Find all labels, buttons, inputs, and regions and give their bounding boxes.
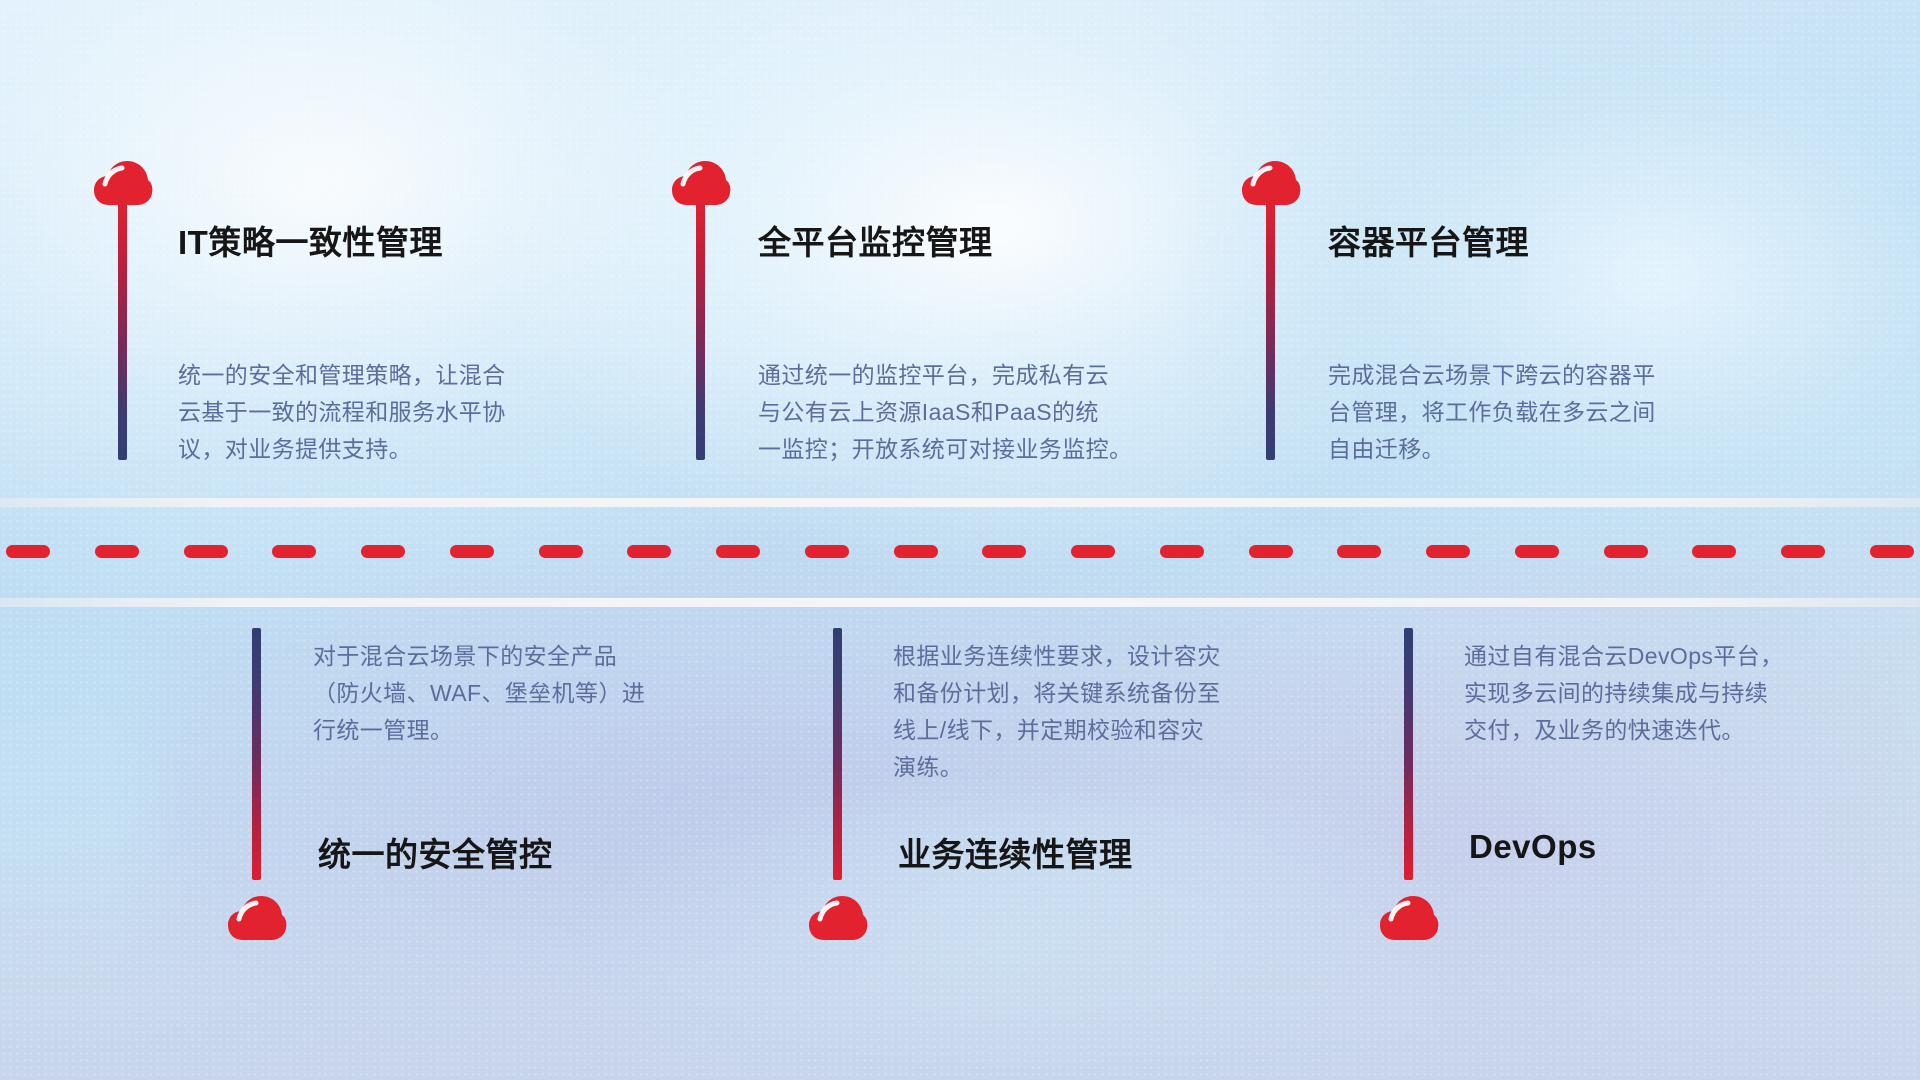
divider-band-top xyxy=(0,498,1920,507)
top-card-1-title: IT策略一致性管理 xyxy=(178,216,443,264)
connector-stem xyxy=(1404,628,1413,880)
divider-dash xyxy=(361,545,405,558)
divider-dash xyxy=(627,545,671,558)
body-line: 台管理，将工作负载在多云之间 xyxy=(1328,394,1656,431)
top-card-3-title: 容器平台管理 xyxy=(1328,216,1529,264)
body-line: 通过自有混合云DevOps平台， xyxy=(1464,638,1783,675)
bottom-card-2-title: 业务连续性管理 xyxy=(898,828,1133,876)
connector-stem xyxy=(833,628,842,880)
connector-stem xyxy=(118,198,127,460)
body-line: 行统一管理。 xyxy=(313,712,645,749)
divider-dash xyxy=(1692,545,1736,558)
connector-stem xyxy=(1266,198,1275,460)
divider-dash xyxy=(184,545,228,558)
cloud-icon xyxy=(807,895,869,941)
body-line: 与公有云上资源IaaS和PaaS的统 xyxy=(758,394,1132,431)
top-card-2-body: 通过统一的监控平台，完成私有云 与公有云上资源IaaS和PaaS的统 一监控；开… xyxy=(758,357,1132,468)
divider-dash xyxy=(1337,545,1381,558)
divider-band-bottom xyxy=(0,598,1920,607)
divider-dash xyxy=(1515,545,1559,558)
background-dot-texture xyxy=(0,0,1920,1080)
bottom-card-3-body: 通过自有混合云DevOps平台， 实现多云间的持续集成与持续 交付，及业务的快速… xyxy=(1464,638,1783,749)
divider-dash xyxy=(6,545,50,558)
divider-dash xyxy=(1781,545,1825,558)
body-line: 议，对业务提供支持。 xyxy=(178,431,506,468)
top-card-1-body: 统一的安全和管理策略，让混合 云基于一致的流程和服务水平协 议，对业务提供支持。 xyxy=(178,357,506,468)
divider-dash xyxy=(95,545,139,558)
cloud-icon xyxy=(1378,895,1440,941)
divider-dash xyxy=(1426,545,1470,558)
divider-dash xyxy=(1604,545,1648,558)
bottom-card-1-title: 统一的安全管控 xyxy=(318,828,553,876)
bottom-card-1-body: 对于混合云场景下的安全产品 （防火墙、WAF、堡垒机等）进 行统一管理。 xyxy=(313,638,645,749)
body-line: 实现多云间的持续集成与持续 xyxy=(1464,675,1783,712)
body-line: 根据业务连续性要求，设计容灾 xyxy=(893,638,1221,675)
top-card-2-title: 全平台监控管理 xyxy=(758,216,993,264)
divider-dash xyxy=(1071,545,1115,558)
body-line: 对于混合云场景下的安全产品 xyxy=(313,638,645,675)
divider-dash xyxy=(982,545,1026,558)
divider-dash xyxy=(805,545,849,558)
divider-dash xyxy=(450,545,494,558)
body-line: 通过统一的监控平台，完成私有云 xyxy=(758,357,1132,394)
body-line: 和备份计划，将关键系统备份至 xyxy=(893,675,1221,712)
divider-dash xyxy=(716,545,760,558)
divider-dash xyxy=(1249,545,1293,558)
body-line: 一监控；开放系统可对接业务监控。 xyxy=(758,431,1132,468)
divider-dash xyxy=(1160,545,1204,558)
divider-dash xyxy=(272,545,316,558)
body-line: 云基于一致的流程和服务水平协 xyxy=(178,394,506,431)
body-line: 完成混合云场景下跨云的容器平 xyxy=(1328,357,1656,394)
bottom-card-3-title: DevOps xyxy=(1469,828,1597,866)
body-line: 交付，及业务的快速迭代。 xyxy=(1464,712,1783,749)
divider-dash xyxy=(539,545,583,558)
connector-stem xyxy=(252,628,261,880)
divider-dash xyxy=(894,545,938,558)
bottom-card-2-body: 根据业务连续性要求，设计容灾 和备份计划，将关键系统备份至 线上/线下，并定期校… xyxy=(893,638,1221,786)
body-line: 线上/线下，并定期校验和容灾 xyxy=(893,712,1221,749)
body-line: （防火墙、WAF、堡垒机等）进 xyxy=(313,675,645,712)
infographic-canvas: IT策略一致性管理 统一的安全和管理策略，让混合 云基于一致的流程和服务水平协 … xyxy=(0,0,1920,1080)
connector-stem xyxy=(696,198,705,460)
body-line: 演练。 xyxy=(893,749,1221,786)
body-line: 自由迁移。 xyxy=(1328,431,1656,468)
divider-dashed-line xyxy=(0,545,1920,558)
cloud-icon xyxy=(226,895,288,941)
divider-dash xyxy=(1870,545,1914,558)
top-card-3-body: 完成混合云场景下跨云的容器平 台管理，将工作负载在多云之间 自由迁移。 xyxy=(1328,357,1656,468)
body-line: 统一的安全和管理策略，让混合 xyxy=(178,357,506,394)
